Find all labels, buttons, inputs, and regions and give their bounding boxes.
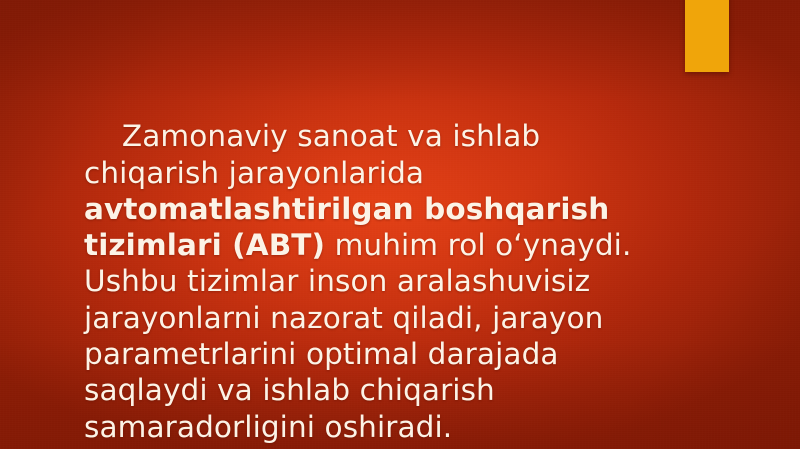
slide-body-text: Zamonaviy sanoat va ishlab chiqarish jar… xyxy=(84,82,684,449)
presentation-slide: Zamonaviy sanoat va ishlab chiqarish jar… xyxy=(0,0,800,449)
accent-bar-decoration xyxy=(685,0,729,72)
body-text-segment-plain-1: Zamonaviy sanoat va ishlab chiqarish jar… xyxy=(84,119,550,189)
